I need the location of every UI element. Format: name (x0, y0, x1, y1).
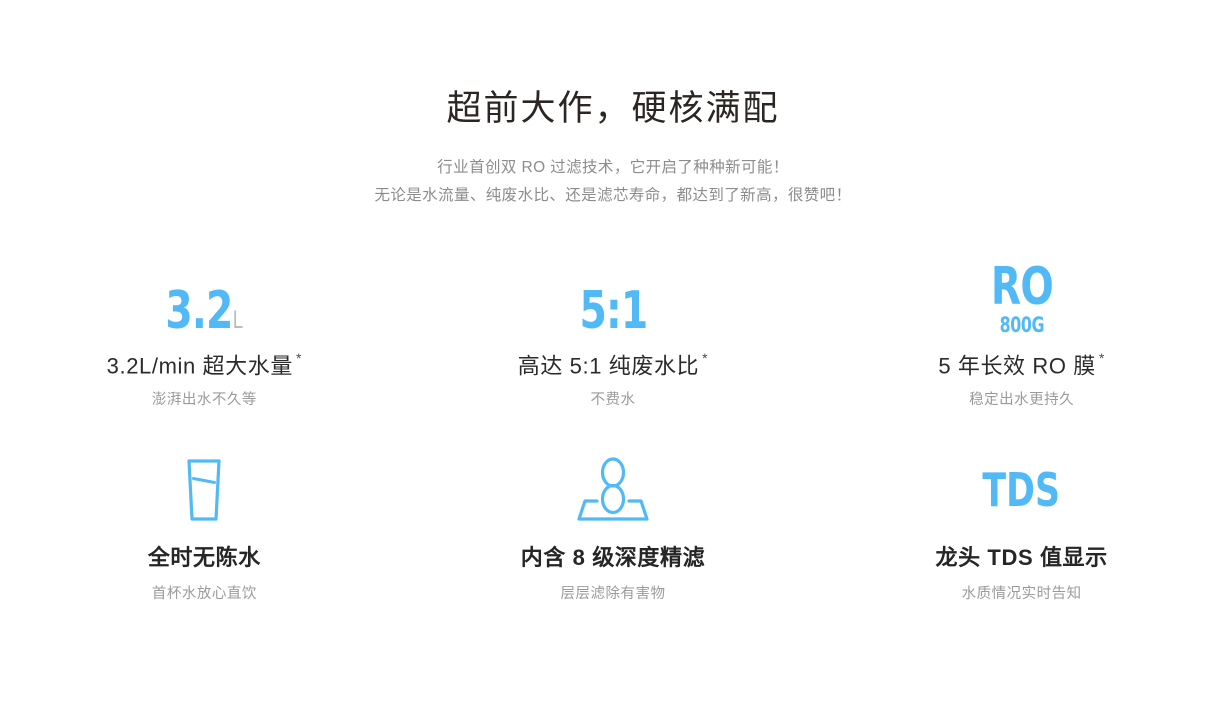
eight-stage-filter-icon-svg (573, 455, 653, 525)
page-subtitle: 行业首创双 RO 过滤技术，它开启了种种新可能！ 无论是水流量、纯废水比、还是滤… (0, 132, 1226, 211)
stat-graphic-ro-membrane: RO 800G (817, 268, 1226, 336)
feature-item-flow-rate: 3.2L 3.2L/min 超大水量* 澎湃出水不久等 (0, 268, 409, 454)
water-glass-icon (0, 454, 409, 526)
water-glass-icon-svg (176, 457, 232, 523)
feature-item-fresh-water: 全时无陈水 首杯水放心直饮 (0, 454, 409, 624)
stat-unit-litre: L (233, 306, 243, 334)
stat-value-ro-membrane: RO 800G (991, 261, 1053, 336)
feature-label-fresh-water: 全时无陈水 (0, 544, 409, 572)
footnote-asterisk: * (702, 350, 708, 366)
stat-graphic-flow-rate: 3.2L (0, 268, 409, 336)
feature-caption-eight-stage: 层层滤除有害物 (409, 586, 818, 603)
stat-ro-capacity: 800G (999, 315, 1043, 336)
feature-caption-fresh-water: 首杯水放心直饮 (0, 586, 409, 603)
feature-label-text: 高达 5:1 纯废水比 (518, 353, 699, 378)
feature-label-ro-membrane: 5 年长效 RO 膜* (817, 352, 1226, 380)
stat-value-flow-rate: 3.2L (166, 288, 243, 336)
feature-item-eight-stage: 内含 8 级深度精滤 层层滤除有害物 (409, 454, 818, 624)
tds-text-icon-label: TDS (983, 469, 1061, 511)
feature-item-waste-ratio: 5:1 高达 5:1 纯废水比* 不费水 (409, 268, 818, 454)
subtitle-line-1: 行业首创双 RO 过滤技术，它开启了种种新可能！ (0, 154, 1226, 183)
promo-page: 超前大作，硬核满配 行业首创双 RO 过滤技术，它开启了种种新可能！ 无论是水流… (0, 0, 1226, 713)
feature-label-text: 5 年长效 RO 膜 (938, 353, 1096, 378)
eight-stage-filter-icon (409, 454, 818, 526)
stat-graphic-waste-ratio: 5:1 (409, 268, 818, 336)
feature-caption-flow-rate: 澎湃出水不久等 (0, 392, 409, 409)
feature-label-waste-ratio: 高达 5:1 纯废水比* (409, 352, 818, 380)
page-title: 超前大作，硬核满配 (0, 0, 1226, 132)
footnote-asterisk: * (1099, 350, 1105, 366)
feature-label-tds-display: 龙头 TDS 值显示 (817, 544, 1226, 572)
feature-item-ro-membrane: RO 800G 5 年长效 RO 膜* 稳定出水更持久 (817, 268, 1226, 454)
feature-caption-tds-display: 水质情况实时告知 (817, 586, 1226, 603)
feature-label-eight-stage: 内含 8 级深度精滤 (409, 544, 818, 572)
feature-label-text: 3.2L/min 超大水量 (107, 353, 293, 378)
stat-value-waste-ratio: 5:1 (579, 288, 647, 336)
page-header: 超前大作，硬核满配 行业首创双 RO 过滤技术，它开启了种种新可能！ 无论是水流… (0, 0, 1226, 211)
feature-label-flow-rate: 3.2L/min 超大水量* (0, 352, 409, 380)
feature-caption-waste-ratio: 不费水 (409, 392, 818, 409)
stat-ro-label: RO (991, 261, 1053, 313)
feature-caption-ro-membrane: 稳定出水更持久 (817, 392, 1226, 409)
feature-grid: 3.2L 3.2L/min 超大水量* 澎湃出水不久等 5:1 高达 5:1 纯… (0, 268, 1226, 624)
footnote-asterisk: * (296, 350, 302, 366)
feature-item-tds-display: TDS 龙头 TDS 值显示 水质情况实时告知 (817, 454, 1226, 624)
tds-text-icon: TDS (817, 454, 1226, 526)
subtitle-line-2: 无论是水流量、纯废水比、还是滤芯寿命，都达到了新高，很赞吧！ (0, 182, 1226, 211)
stat-number: 3.2 (166, 281, 233, 341)
